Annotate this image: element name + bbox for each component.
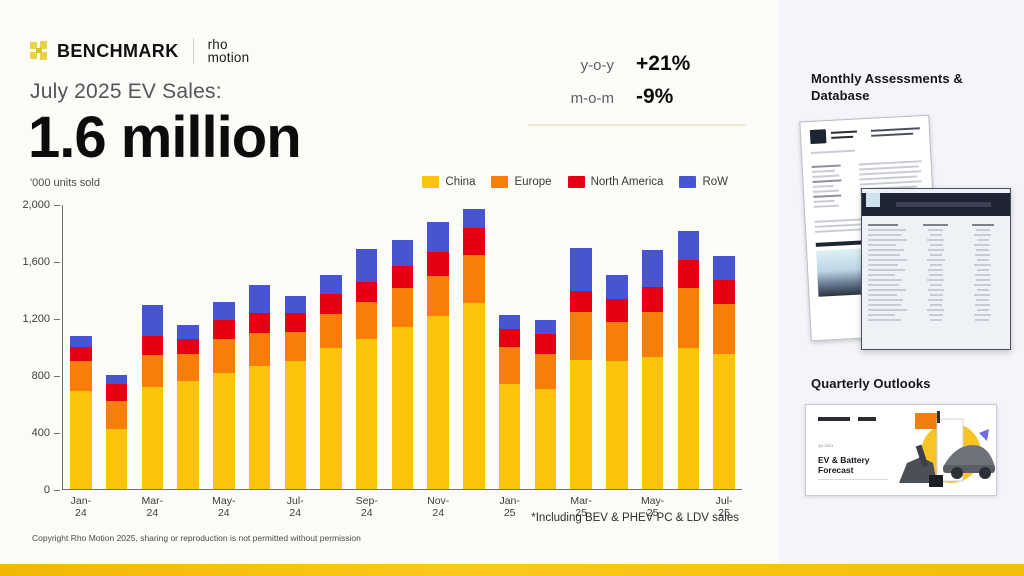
x-axis-line [62,489,742,490]
bar-segment-china [285,361,306,489]
bar-segment-europe [713,304,734,353]
database-spreadsheet-thumbnail[interactable] [861,188,1011,350]
bar-segment-china [356,339,377,489]
x-axis-label: Jan- 24 [71,495,91,519]
bar-jan-25[interactable] [499,315,520,489]
x-axis-label: May- 24 [212,495,235,519]
bar-segment-row [249,285,270,313]
bar-segment-china [678,348,699,489]
headline-value: 1.6 million [28,104,301,171]
bar-segment-europe [535,354,556,390]
stats-underline [528,124,746,126]
bar-segment-north-america [570,291,591,312]
bar-apr-24[interactable] [177,325,198,489]
bar-segment-north-america [70,347,91,361]
bar-slot [599,205,635,489]
bar-mar-24[interactable] [142,305,163,489]
y-axis-tick [54,376,60,377]
bar-segment-china [570,360,591,489]
x-axis-label: Nov- 24 [427,495,449,519]
y-axis-label: 800 [32,370,50,382]
bar-slot: Jul-25 [706,205,742,489]
bar-segment-row [142,305,163,336]
bar-segment-row [356,249,377,282]
headline-kicker: July 2025 EV Sales: [30,80,222,104]
bar-segment-europe [285,332,306,361]
y-axis-tick [54,433,60,434]
bar-apr-25[interactable] [606,275,627,489]
bar-slot [99,205,135,489]
y-axis-label: 1,200 [22,313,50,325]
bar-segment-europe [249,333,270,366]
bar-segment-china [713,354,734,489]
bar-jul-24[interactable] [285,296,306,489]
bar-segment-europe [70,361,91,391]
bar-jun-25[interactable] [678,231,699,489]
bar-segment-china [142,387,163,489]
bar-slot [313,205,349,489]
legend-swatch-icon [422,176,439,188]
bar-segment-row [535,320,556,334]
chart-legend: ChinaEuropeNorth AmericaRoW [422,176,737,188]
bar-segment-europe [642,312,663,358]
x-axis-label: Mar- 24 [142,495,164,519]
bar-segment-north-america [106,384,127,401]
bar-slot [385,205,421,489]
stats-block: y-o-y +21% m-o-m -9% [528,52,748,126]
stat-row-yoy: y-o-y +21% [528,52,748,85]
bar-slot: May- 24 [206,205,242,489]
bar-dec-24[interactable] [463,209,484,489]
bar-segment-row [320,275,341,294]
logo-divider [193,38,194,64]
legend-item-europe[interactable]: Europe [491,176,551,188]
bar-jun-24[interactable] [249,285,270,489]
bar-aug-24[interactable] [320,275,341,489]
bar-slot: Mar- 24 [134,205,170,489]
bar-segment-north-america [678,260,699,288]
bar-segment-north-america [427,252,448,276]
bar-slot: Jan- 24 [63,205,99,489]
bar-segment-north-america [606,299,627,322]
legend-item-row[interactable]: RoW [679,176,728,188]
legend-label: Europe [514,176,551,188]
bar-segment-north-america [356,282,377,303]
outlook-logo [818,417,876,421]
bar-segment-row [392,240,413,266]
bar-segment-europe [678,288,699,348]
x-axis-label: Sep- 24 [356,495,378,519]
bar-mar-25[interactable] [570,248,591,489]
y-axis-tick [54,205,60,206]
bar-segment-row [106,375,127,384]
y-axis-label: 2,000 [22,199,50,211]
bar-segment-north-america [713,280,734,305]
bar-segment-north-america [213,320,234,339]
outlook-title: EV & Battery Forecast [818,455,870,475]
bar-segment-china [392,327,413,489]
bar-segment-europe [463,255,484,303]
bar-segment-europe [499,347,520,384]
bar-slot: Nov- 24 [420,205,456,489]
bar-slot: May- 25 [635,205,671,489]
bar-segment-row [499,315,520,329]
bar-segment-north-america [285,313,306,332]
outlook-eyebrow: Q4 2024 [818,443,833,448]
bar-segment-europe [177,354,198,381]
legend-swatch-icon [491,176,508,188]
bar-slot: Jul-24 [277,205,313,489]
bar-slot [170,205,206,489]
bar-slot: Jan- 25 [492,205,528,489]
bar-slot [670,205,706,489]
bar-segment-row [213,302,234,320]
y-axis-label: 0 [44,484,50,496]
y-axis-tick [54,490,60,491]
legend-swatch-icon [568,176,585,188]
bar-segment-row [177,325,198,339]
outlook-rule [818,479,888,480]
x-axis-label: Jul-24 [286,495,304,519]
bar-segment-row [678,231,699,260]
bar-segment-north-america [249,313,270,333]
bar-segment-north-america [177,339,198,354]
bar-segment-row [463,209,484,228]
bar-slot: Mar- 25 [563,205,599,489]
rho-motion-wordmark: rho motion [208,38,250,64]
bar-segment-row [642,250,663,286]
benchmark-plus-mark-icon [30,41,52,61]
x-axis-label: Jan- 25 [499,495,519,519]
bar-segment-north-america [642,287,663,312]
bar-segment-china [249,366,270,489]
bar-feb-25[interactable] [535,320,556,489]
y-axis-tick [54,262,60,263]
bar-segment-china [106,429,127,489]
bar-segment-row [570,248,591,291]
bar-segment-north-america [535,334,556,354]
legend-label: RoW [702,176,728,188]
bar-segment-north-america [463,228,484,254]
y-axis-tick [54,319,60,320]
bar-jan-24[interactable] [70,336,91,489]
bar-segment-row [70,336,91,347]
bar-segment-china [642,357,663,489]
bar-segment-china [320,348,341,489]
bar-segment-europe [320,314,341,347]
bar-may-24[interactable] [213,302,234,489]
bar-nov-24[interactable] [427,222,448,489]
bar-segment-china [535,389,556,489]
main-panel: BENCHMARK rho motion July 2025 EV Sales:… [0,0,779,576]
stat-value-mom: -9% [636,85,673,109]
bar-segment-north-america [142,336,163,355]
sidebar-heading-monthly: Monthly Assessments & Database [811,70,991,104]
stat-row-mom: m-o-m -9% [528,85,748,118]
copyright-text: Copyright Rho Motion 2025, sharing or re… [32,533,361,543]
bar-segment-north-america [320,294,341,315]
stat-value-yoy: +21% [636,52,690,76]
legend-item-north-america[interactable]: North America [568,176,664,188]
bar-segment-row [606,275,627,300]
bar-segment-china [213,373,234,489]
bar-sep-24[interactable] [356,249,377,489]
bar-segment-europe [427,276,448,316]
ev-battery-illustration-icon [891,405,996,495]
bar-segment-europe [356,302,377,338]
bar-segment-europe [606,322,627,360]
y-axis-label: 1,600 [22,256,50,268]
bar-oct-24[interactable] [392,240,413,489]
bar-segment-row [427,222,448,252]
benchmark-wordmark: BENCHMARK [57,41,179,62]
page-root: BENCHMARK rho motion July 2025 EV Sales:… [0,0,1024,576]
plot-area: Jan- 24Mar- 24May- 24Jul-24Sep- 24Nov- 2… [63,205,742,489]
y-axis-label: 400 [32,427,50,439]
stat-label-yoy: y-o-y [528,57,636,74]
bar-segment-europe [570,312,591,360]
legend-item-china[interactable]: China [422,176,475,188]
bar-jul-25[interactable] [713,256,734,489]
bar-segment-europe [106,401,127,429]
bar-slot [456,205,492,489]
bar-segment-north-america [499,329,520,346]
stat-label-mom: m-o-m [528,90,636,107]
bar-segment-europe [142,355,163,387]
bar-segment-row [713,256,734,280]
chart-footnote: *Including BEV & PHEV PC & LDV sales [531,512,739,524]
bar-segment-china [463,303,484,489]
bar-slot [242,205,278,489]
bar-may-25[interactable] [642,250,663,489]
brand-logo: BENCHMARK rho motion [30,36,249,66]
units-label: '000 units sold [30,177,100,189]
bar-segment-europe [392,288,413,326]
sidebar-panel: Monthly Assessments & Database [779,0,1024,576]
legend-label: China [445,176,475,188]
bar-segment-row [285,296,306,313]
bar-slot [528,205,564,489]
bar-segment-china [499,384,520,489]
quarterly-outlook-thumbnail[interactable]: Q4 2024 EV & Battery Forecast [805,404,997,496]
sidebar-heading-quarterly: Quarterly Outlooks [811,375,931,392]
legend-swatch-icon [679,176,696,188]
bar-segment-china [606,361,627,489]
bar-segment-china [70,391,91,489]
legend-label: North America [591,176,664,188]
bottom-accent-strip [0,564,1024,576]
bar-segment-north-america [392,266,413,288]
bar-segment-europe [213,339,234,373]
bar-segment-china [177,381,198,489]
bar-slot: Sep- 24 [349,205,385,489]
bar-segment-china [427,316,448,489]
bar-feb-24[interactable] [106,375,127,489]
bar-chart: 04008001,2001,6002,000 Jan- 24Mar- 24May… [62,205,742,490]
